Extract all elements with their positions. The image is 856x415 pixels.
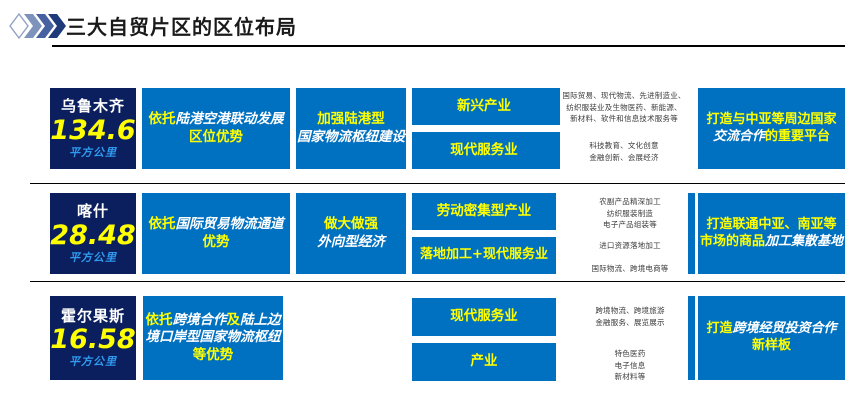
row-divider-2	[30, 281, 845, 282]
industry-detail-urumqi-2: 科技教育、文化创意 金融创新、会展经济	[560, 140, 688, 163]
accent-strip	[688, 193, 695, 274]
industry-detail-horgos-2: 特色医药 电子信息 新材料等	[572, 348, 688, 383]
advantage-box-horgos[interactable]: 依托跨境合作及陆上边 境口岸型国家物流枢纽 等优势	[143, 296, 283, 380]
goal-emphasis: 跨境经贸投资合作	[733, 321, 837, 336]
industry-detail-kashgar-1: 农副产品精深加工 纺织服装制造 电子产品组装等	[572, 196, 688, 231]
industry-label: 现代服务业	[450, 142, 518, 159]
advantage-rest: 国际贸易物流通道	[176, 216, 284, 232]
industry-detail-kashgar-2: 进口资源落地加工 国际物流、跨境电商等	[572, 240, 688, 275]
advantage-line2: 优势	[203, 234, 230, 250]
accent-strip	[688, 296, 695, 380]
city-name: 霍尔果斯	[61, 308, 125, 325]
goal-box-urumqi[interactable]: 打造与中亚等周边国家 交流合作的重要平台	[698, 88, 845, 169]
advantage-box-urumqi[interactable]: 依托陆港空港联动发展 区位优势	[142, 88, 290, 169]
advantage-line2: 境口岸型国家物流枢纽	[146, 329, 281, 345]
city-area-value: 134.6	[50, 115, 135, 146]
advantage-rest: 跨境合作	[173, 312, 227, 328]
goal-prefix: 打造	[706, 321, 732, 336]
city-area-unit: 平方公里	[69, 355, 117, 368]
industry-box-urumqi-2[interactable]: 现代服务业	[412, 132, 556, 169]
goal-tail: 的重要平台	[765, 129, 830, 144]
double-chevron-icon	[8, 10, 66, 42]
title-underline	[52, 45, 845, 47]
industry-box-kashgar-1[interactable]: 劳动密集型产业	[412, 193, 556, 230]
industry-label: 现代服务业	[450, 308, 518, 325]
goal-line2a: 市场的商品	[700, 234, 765, 249]
industry-box-horgos-2[interactable]: 产业	[412, 343, 556, 381]
strategy-box-urumqi[interactable]: 加强陆港型 国家物流枢纽建设	[296, 88, 406, 169]
city-area-value: 28.48	[50, 220, 135, 251]
advantage-rest: 陆港空港联动发展	[176, 111, 284, 127]
city-area-unit: 平方公里	[69, 251, 117, 264]
goal-line2: 新样板	[752, 338, 791, 353]
industry-box-urumqi-1[interactable]: 新兴产业	[412, 88, 556, 125]
industry-label: 产业	[471, 353, 498, 370]
goal-line1: 打造联通中亚、南亚等	[706, 217, 836, 232]
accent-strip	[553, 132, 560, 169]
strategy-line2: 国家物流枢纽建设	[297, 129, 405, 145]
strategy-line1: 加强陆港型	[317, 111, 385, 127]
row-divider-1	[30, 183, 845, 184]
advantage-emphasis: 依托	[149, 216, 176, 232]
industry-box-horgos-1[interactable]: 现代服务业	[412, 298, 556, 336]
industry-label: 落地加工+现代服务业	[420, 247, 548, 264]
city-name: 喀什	[77, 203, 109, 220]
city-card-urumqi: 乌鲁木齐 134.6 平方公里	[50, 88, 136, 169]
city-area-unit: 平方公里	[69, 146, 117, 159]
advantage-rest-2: 陆上边	[240, 312, 281, 328]
industry-detail-horgos-1: 跨境物流、跨境旅游 金融服务、展览展示	[572, 305, 688, 328]
industry-detail-urumqi-1: 国际贸易、现代物流、先进制造业、 纺织服装业及生物医药、新能源、 新材料、软件和…	[560, 90, 688, 125]
strategy-line2: 外向型经济	[317, 234, 385, 250]
city-card-horgos: 霍尔果斯 16.58 平方公里	[50, 296, 136, 380]
page-header: 三大自贸片区的区位布局	[0, 0, 856, 52]
advantage-emphasis: 依托	[149, 111, 176, 127]
goal-emphasis: 加工集散基地	[765, 234, 843, 249]
city-name: 乌鲁木齐	[61, 98, 125, 115]
goal-emphasis: 交流合作	[713, 129, 765, 144]
city-card-kashgar: 喀什 28.48 平方公里	[50, 193, 136, 274]
advantage-line2: 区位优势	[189, 129, 243, 145]
goal-box-horgos[interactable]: 打造跨境经贸投资合作 新样板	[698, 296, 845, 380]
page-title: 三大自贸片区的区位布局	[66, 11, 297, 40]
advantage-emphasis-2: 及	[227, 312, 241, 328]
strategy-box-kashgar[interactable]: 做大做强 外向型经济	[296, 193, 406, 274]
goal-box-kashgar[interactable]: 打造联通中亚、南亚等 市场的商品加工集散基地	[698, 193, 845, 274]
industry-box-kashgar-2[interactable]: 落地加工+现代服务业	[412, 237, 556, 274]
industry-label: 劳动密集型产业	[437, 203, 532, 220]
city-area-value: 16.58	[50, 324, 135, 355]
accent-strip	[553, 88, 560, 125]
strategy-line1: 做大做强	[324, 216, 378, 232]
advantage-line3: 等优势	[193, 347, 234, 363]
goal-line1: 打造与中亚等周边国家	[706, 112, 836, 127]
advantage-box-kashgar[interactable]: 依托国际贸易物流通道 优势	[142, 193, 290, 274]
industry-label: 新兴产业	[457, 98, 511, 115]
advantage-emphasis: 依托	[146, 312, 173, 328]
